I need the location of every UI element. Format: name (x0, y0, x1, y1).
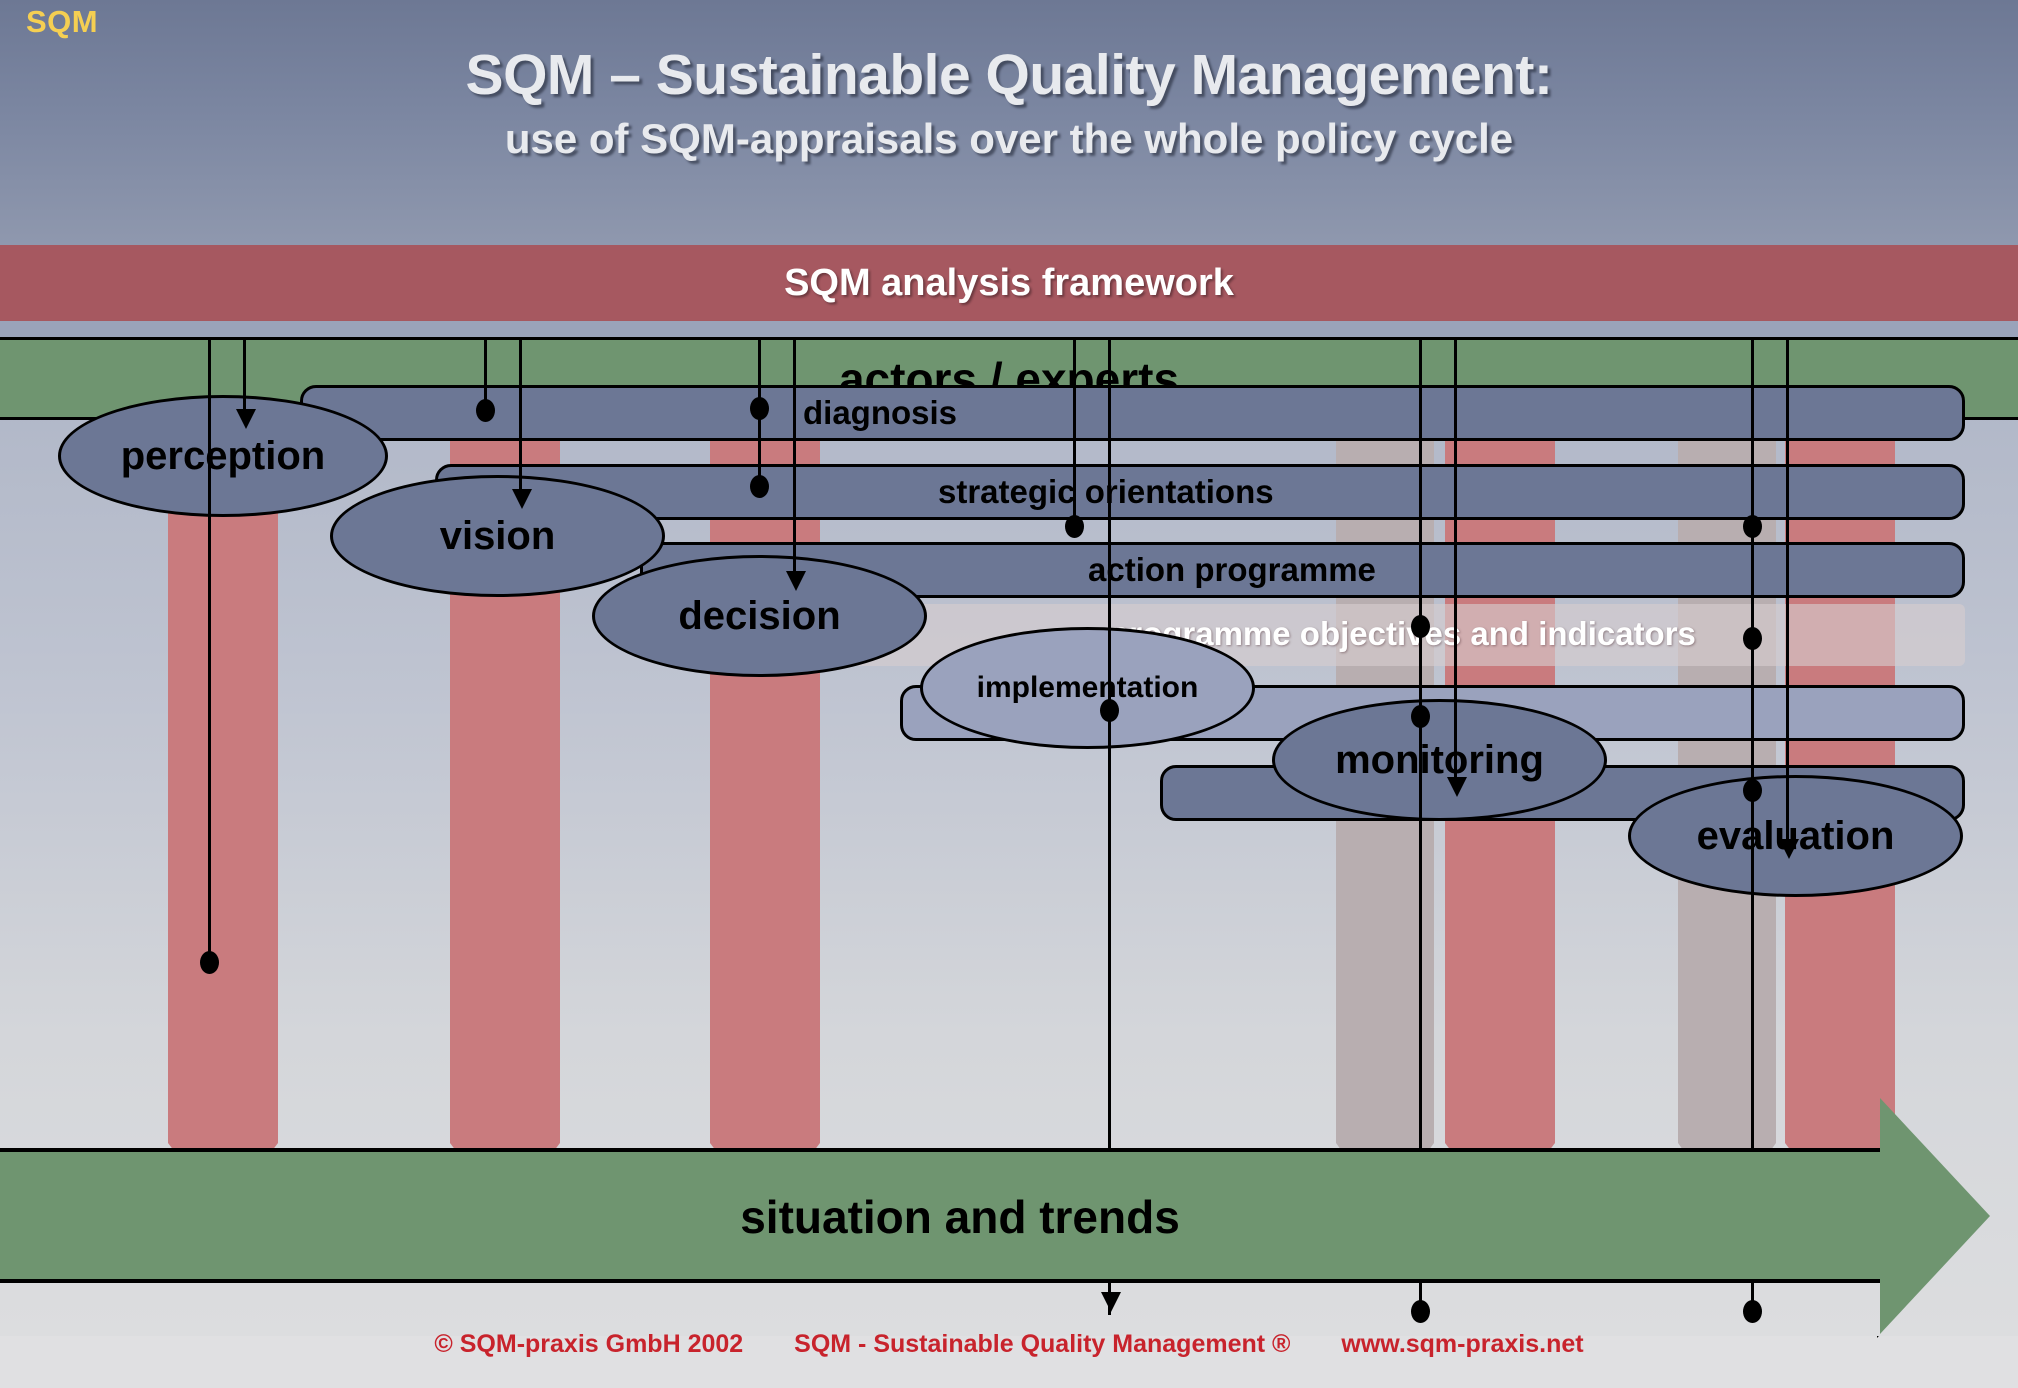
stage-evaluation[interactable]: evaluation (1628, 775, 1963, 897)
connector-dot-5-a (1411, 615, 1430, 638)
connector-dot-4-impl (1100, 699, 1119, 722)
connector-dot-3-b (750, 475, 769, 498)
stage-decision-label: decision (678, 594, 840, 639)
bar-diagnosis-label: diagnosis (303, 388, 2018, 438)
stage-implementation[interactable]: implementation (920, 627, 1255, 749)
sqm-logo: SQM (26, 4, 98, 40)
footer-copyright: © SQM-praxis GmbH 2002 (434, 1330, 743, 1359)
framework-gap (0, 321, 2018, 337)
arrowhead-down-2 (512, 489, 532, 509)
stage-perception[interactable]: perception (58, 395, 388, 517)
connector-dot-3-a (750, 397, 769, 420)
connector-line-up-1 (208, 337, 211, 967)
connector-dot-6-c (1743, 779, 1762, 802)
arrowhead-down-5 (1447, 777, 1467, 797)
framework-band-label: SQM analysis framework (784, 262, 1234, 305)
connector-line-down-6 (1786, 337, 1789, 845)
connector-dot-6-a (1743, 515, 1762, 538)
connector-line-down-5 (1454, 337, 1457, 783)
stage-decision[interactable]: decision (592, 555, 927, 677)
page-title: SQM – Sustainable Quality Management: (0, 42, 2018, 108)
connector-dot-2-mid (476, 399, 495, 422)
red-column-2 (450, 337, 560, 1143)
footer: © SQM-praxis GmbH 2002 SQM - Sustainable… (0, 1330, 2018, 1359)
trends-arrowhead (1880, 1098, 1990, 1334)
stage-vision[interactable]: vision (330, 475, 665, 597)
bar-diagnosis: diagnosis (300, 385, 1965, 441)
stage-implementation-label: implementation (977, 671, 1199, 705)
stage-perception-label: perception (121, 434, 325, 479)
arrowhead-down-1 (236, 409, 256, 429)
connector-dot-5-b (1411, 705, 1430, 728)
trends-band-label: situation and trends (0, 1190, 1920, 1244)
connector-line-down-1 (243, 337, 246, 415)
trends-band: situation and trends (0, 1148, 1920, 1283)
framework-band: SQM analysis framework (0, 245, 2018, 321)
connector-dot-4-mid (1065, 515, 1084, 538)
connector-line-down-2 (519, 337, 522, 495)
slide-canvas: SQM SQM – Sustainable Quality Management… (0, 0, 2018, 1388)
bar-strategic-orientations-label: strategic orientations (438, 467, 2018, 517)
connector-line-down-3 (793, 337, 796, 577)
footer-trademark: SQM - Sustainable Quality Management ® (794, 1330, 1290, 1359)
stage-vision-label: vision (440, 514, 556, 559)
bar-strategic-orientations: strategic orientations (435, 464, 1965, 520)
stage-monitoring-label: monitoring (1335, 738, 1544, 783)
arrowhead-down-3 (786, 571, 806, 591)
slide-header: SQM SQM – Sustainable Quality Management… (0, 0, 2018, 245)
stage-monitoring[interactable]: monitoring (1272, 699, 1607, 821)
page-subtitle: use of SQM-appraisals over the whole pol… (0, 115, 2018, 163)
arrowhead-down-4 (1101, 1292, 1121, 1312)
connector-dot-6-b (1743, 627, 1762, 650)
connector-dot-1-bottom (200, 951, 219, 974)
red-column-3 (710, 337, 820, 1143)
connector-line-up-4 (1073, 337, 1076, 535)
connector-dot-5-bottom (1411, 1300, 1430, 1323)
footer-website[interactable]: www.sqm-praxis.net (1341, 1330, 1583, 1359)
connector-dot-6-bottom (1743, 1300, 1762, 1323)
arrowhead-down-6 (1779, 839, 1799, 859)
